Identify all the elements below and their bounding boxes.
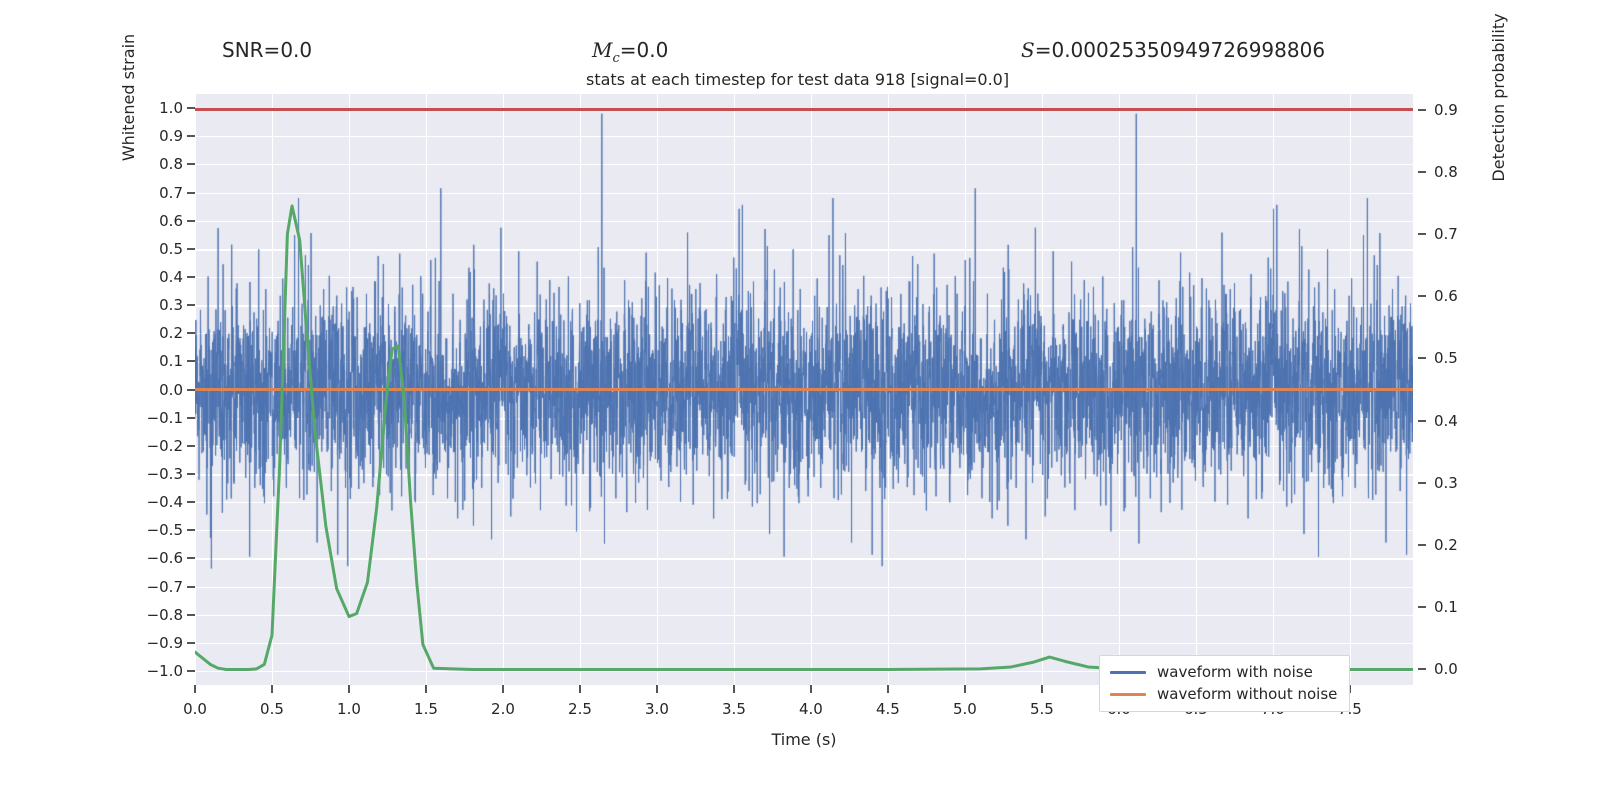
y-axis-right-tick-label: 0.1 xyxy=(1434,598,1458,616)
x-axis-tick-mark xyxy=(425,685,427,693)
y-axis-left-tick-label: 0.0 xyxy=(159,381,183,399)
y-axis-left-tick-mark xyxy=(187,670,195,672)
y-axis-left-tick-mark xyxy=(187,586,195,588)
x-axis-tick-label: 5.0 xyxy=(953,700,977,718)
x-axis-tick-label: 4.0 xyxy=(799,700,823,718)
y-axis-left-tick-label: −0.3 xyxy=(147,465,183,483)
legend: waveform with noise waveform without noi… xyxy=(1099,655,1350,712)
y-axis-left-tick-label: −0.7 xyxy=(147,578,183,596)
x-axis-tick-label: 4.5 xyxy=(876,700,900,718)
legend-label: waveform without noise xyxy=(1157,685,1337,703)
y-axis-right-tick-mark xyxy=(1418,233,1426,235)
y-axis-left-tick-label: −0.5 xyxy=(147,521,183,539)
x-axis-tick-mark xyxy=(887,685,889,693)
y-axis-left-tick-mark xyxy=(187,163,195,165)
y-axis-right-tick-label: 0.3 xyxy=(1434,474,1458,492)
y-axis-left-tick-label: 0.7 xyxy=(159,184,183,202)
y-axis-left-tick-mark xyxy=(187,107,195,109)
annotation-s-value: 0.00025350949726998806 xyxy=(1051,38,1325,62)
x-axis-tick-label: 2.0 xyxy=(491,700,515,718)
y-axis-left-tick-mark xyxy=(187,192,195,194)
annotation-mc-subscript: c xyxy=(612,51,619,66)
x-axis-label: Time (s) xyxy=(195,730,1413,749)
y-axis-right-tick-label: 0.7 xyxy=(1434,225,1458,243)
y-axis-left-tick-mark xyxy=(187,445,195,447)
y-axis-left-tick-label: 0.8 xyxy=(159,155,183,173)
x-axis-tick-label: 1.5 xyxy=(414,700,438,718)
x-axis-tick-mark xyxy=(194,685,196,693)
x-axis-tick-label: 0.0 xyxy=(183,700,207,718)
x-axis-tick-mark xyxy=(1041,685,1043,693)
legend-item-waveform-with-noise[interactable]: waveform with noise xyxy=(1110,661,1337,683)
y-axis-right-tick-mark xyxy=(1418,171,1426,173)
y-axis-left-tick-label: 0.2 xyxy=(159,324,183,342)
y-axis-right-tick-label: 0.2 xyxy=(1434,536,1458,554)
y-axis-left-tick-mark xyxy=(187,557,195,559)
y-axis-right-tick-mark xyxy=(1418,420,1426,422)
y-axis-left-tick-mark xyxy=(187,614,195,616)
y-axis-left-tick-mark xyxy=(187,473,195,475)
y-axis-left-tick-label: 0.3 xyxy=(159,296,183,314)
legend-swatch-line xyxy=(1110,671,1146,674)
x-axis-tick-label: 1.0 xyxy=(337,700,361,718)
x-axis-tick-mark xyxy=(810,685,812,693)
y-axis-left-tick-label: 1.0 xyxy=(159,99,183,117)
y-axis-right-tick-mark xyxy=(1418,357,1426,359)
y-axis-left-tick-label: 0.4 xyxy=(159,268,183,286)
y-axis-left-tick-mark xyxy=(187,135,195,137)
y-axis-right-tick-mark xyxy=(1418,668,1426,670)
y-axis-right-tick-label: 0.9 xyxy=(1434,101,1458,119)
figure-canvas: SNR=0.0 Mc=0.0 S=0.00025350949726998806 … xyxy=(0,0,1600,800)
y-axis-left-tick-label: 0.1 xyxy=(159,352,183,370)
y-axis-left-tick-mark xyxy=(187,360,195,362)
y-axis-left-tick-label: −0.2 xyxy=(147,437,183,455)
y-axis-left-tick-label: −0.9 xyxy=(147,634,183,652)
annotation-statistic: S=0.00025350949726998806 xyxy=(1021,38,1325,62)
y-axis-left-tick-mark xyxy=(187,417,195,419)
x-axis-tick-mark xyxy=(656,685,658,693)
y-axis-left-tick-label: −0.4 xyxy=(147,493,183,511)
y-axis-left-tick-mark xyxy=(187,332,195,334)
chart-title: stats at each timestep for test data 918… xyxy=(586,70,1009,89)
annotation-snr: SNR=0.0 xyxy=(222,38,312,62)
y-axis-left-tick-mark xyxy=(187,304,195,306)
y-axis-left-tick-mark xyxy=(187,220,195,222)
annotation-mc-value: 0.0 xyxy=(637,38,669,62)
y-axis-left-tick-mark xyxy=(187,248,195,250)
x-axis-tick-label: 3.0 xyxy=(645,700,669,718)
x-axis-tick-mark xyxy=(502,685,504,693)
y-axis-right-tick-label: 0.0 xyxy=(1434,660,1458,678)
y-axis-right-tick-mark xyxy=(1418,295,1426,297)
y-axis-left-tick-mark xyxy=(187,276,195,278)
y-axis-right-tick-label: 0.5 xyxy=(1434,349,1458,367)
annotation-s-symbol: S xyxy=(1021,38,1035,62)
y-axis-left-tick-label: −0.8 xyxy=(147,606,183,624)
y-axis-left-tick-label: −1.0 xyxy=(147,662,183,680)
annotation-mc-equals: = xyxy=(620,38,637,62)
x-axis-tick-label: 2.5 xyxy=(568,700,592,718)
x-axis-tick-label: 3.5 xyxy=(722,700,746,718)
x-axis-tick-label: 5.5 xyxy=(1030,700,1054,718)
y-axis-left-tick-label: −0.1 xyxy=(147,409,183,427)
y-axis-left-tick-mark xyxy=(187,529,195,531)
y-axis-right-tick-mark xyxy=(1418,544,1426,546)
y-axis-right-tick-label: 0.8 xyxy=(1434,163,1458,181)
y-axis-right-label: Detection probability xyxy=(1489,0,1508,393)
annotation-mc-symbol: M xyxy=(592,38,612,62)
y-axis-left-tick-mark xyxy=(187,642,195,644)
annotation-chirp-mass: Mc=0.0 xyxy=(592,38,668,66)
x-axis-tick-label: 0.5 xyxy=(260,700,284,718)
y-axis-right-tick-label: 0.4 xyxy=(1434,412,1458,430)
annotation-snr-label: SNR= xyxy=(222,38,280,62)
x-axis-tick-mark xyxy=(733,685,735,693)
y-axis-left-tick-label: 0.9 xyxy=(159,127,183,145)
plot-area xyxy=(195,94,1413,685)
y-axis-right-tick-mark xyxy=(1418,606,1426,608)
annotation-s-equals: = xyxy=(1035,38,1052,62)
y-axis-left-tick-label: 0.6 xyxy=(159,212,183,230)
x-axis-tick-mark xyxy=(579,685,581,693)
y-axis-left-tick-mark xyxy=(187,389,195,391)
x-axis-tick-mark xyxy=(964,685,966,693)
y-axis-right-tick-mark xyxy=(1418,482,1426,484)
annotation-snr-value: 0.0 xyxy=(280,38,312,62)
legend-item-waveform-without-noise[interactable]: waveform without noise xyxy=(1110,683,1337,705)
y-axis-left-tick-mark xyxy=(187,501,195,503)
x-axis-tick-mark xyxy=(271,685,273,693)
series-detection-threshold xyxy=(195,94,1413,685)
x-axis-tick-mark xyxy=(348,685,350,693)
y-axis-right-tick-label: 0.6 xyxy=(1434,287,1458,305)
y-axis-right-tick-mark xyxy=(1418,109,1426,111)
legend-label: waveform with noise xyxy=(1157,663,1313,681)
y-axis-left-tick-label: 0.5 xyxy=(159,240,183,258)
legend-swatch-line xyxy=(1110,693,1146,696)
y-axis-left-label: Whitened strain xyxy=(119,0,138,393)
y-axis-left-tick-label: −0.6 xyxy=(147,549,183,567)
